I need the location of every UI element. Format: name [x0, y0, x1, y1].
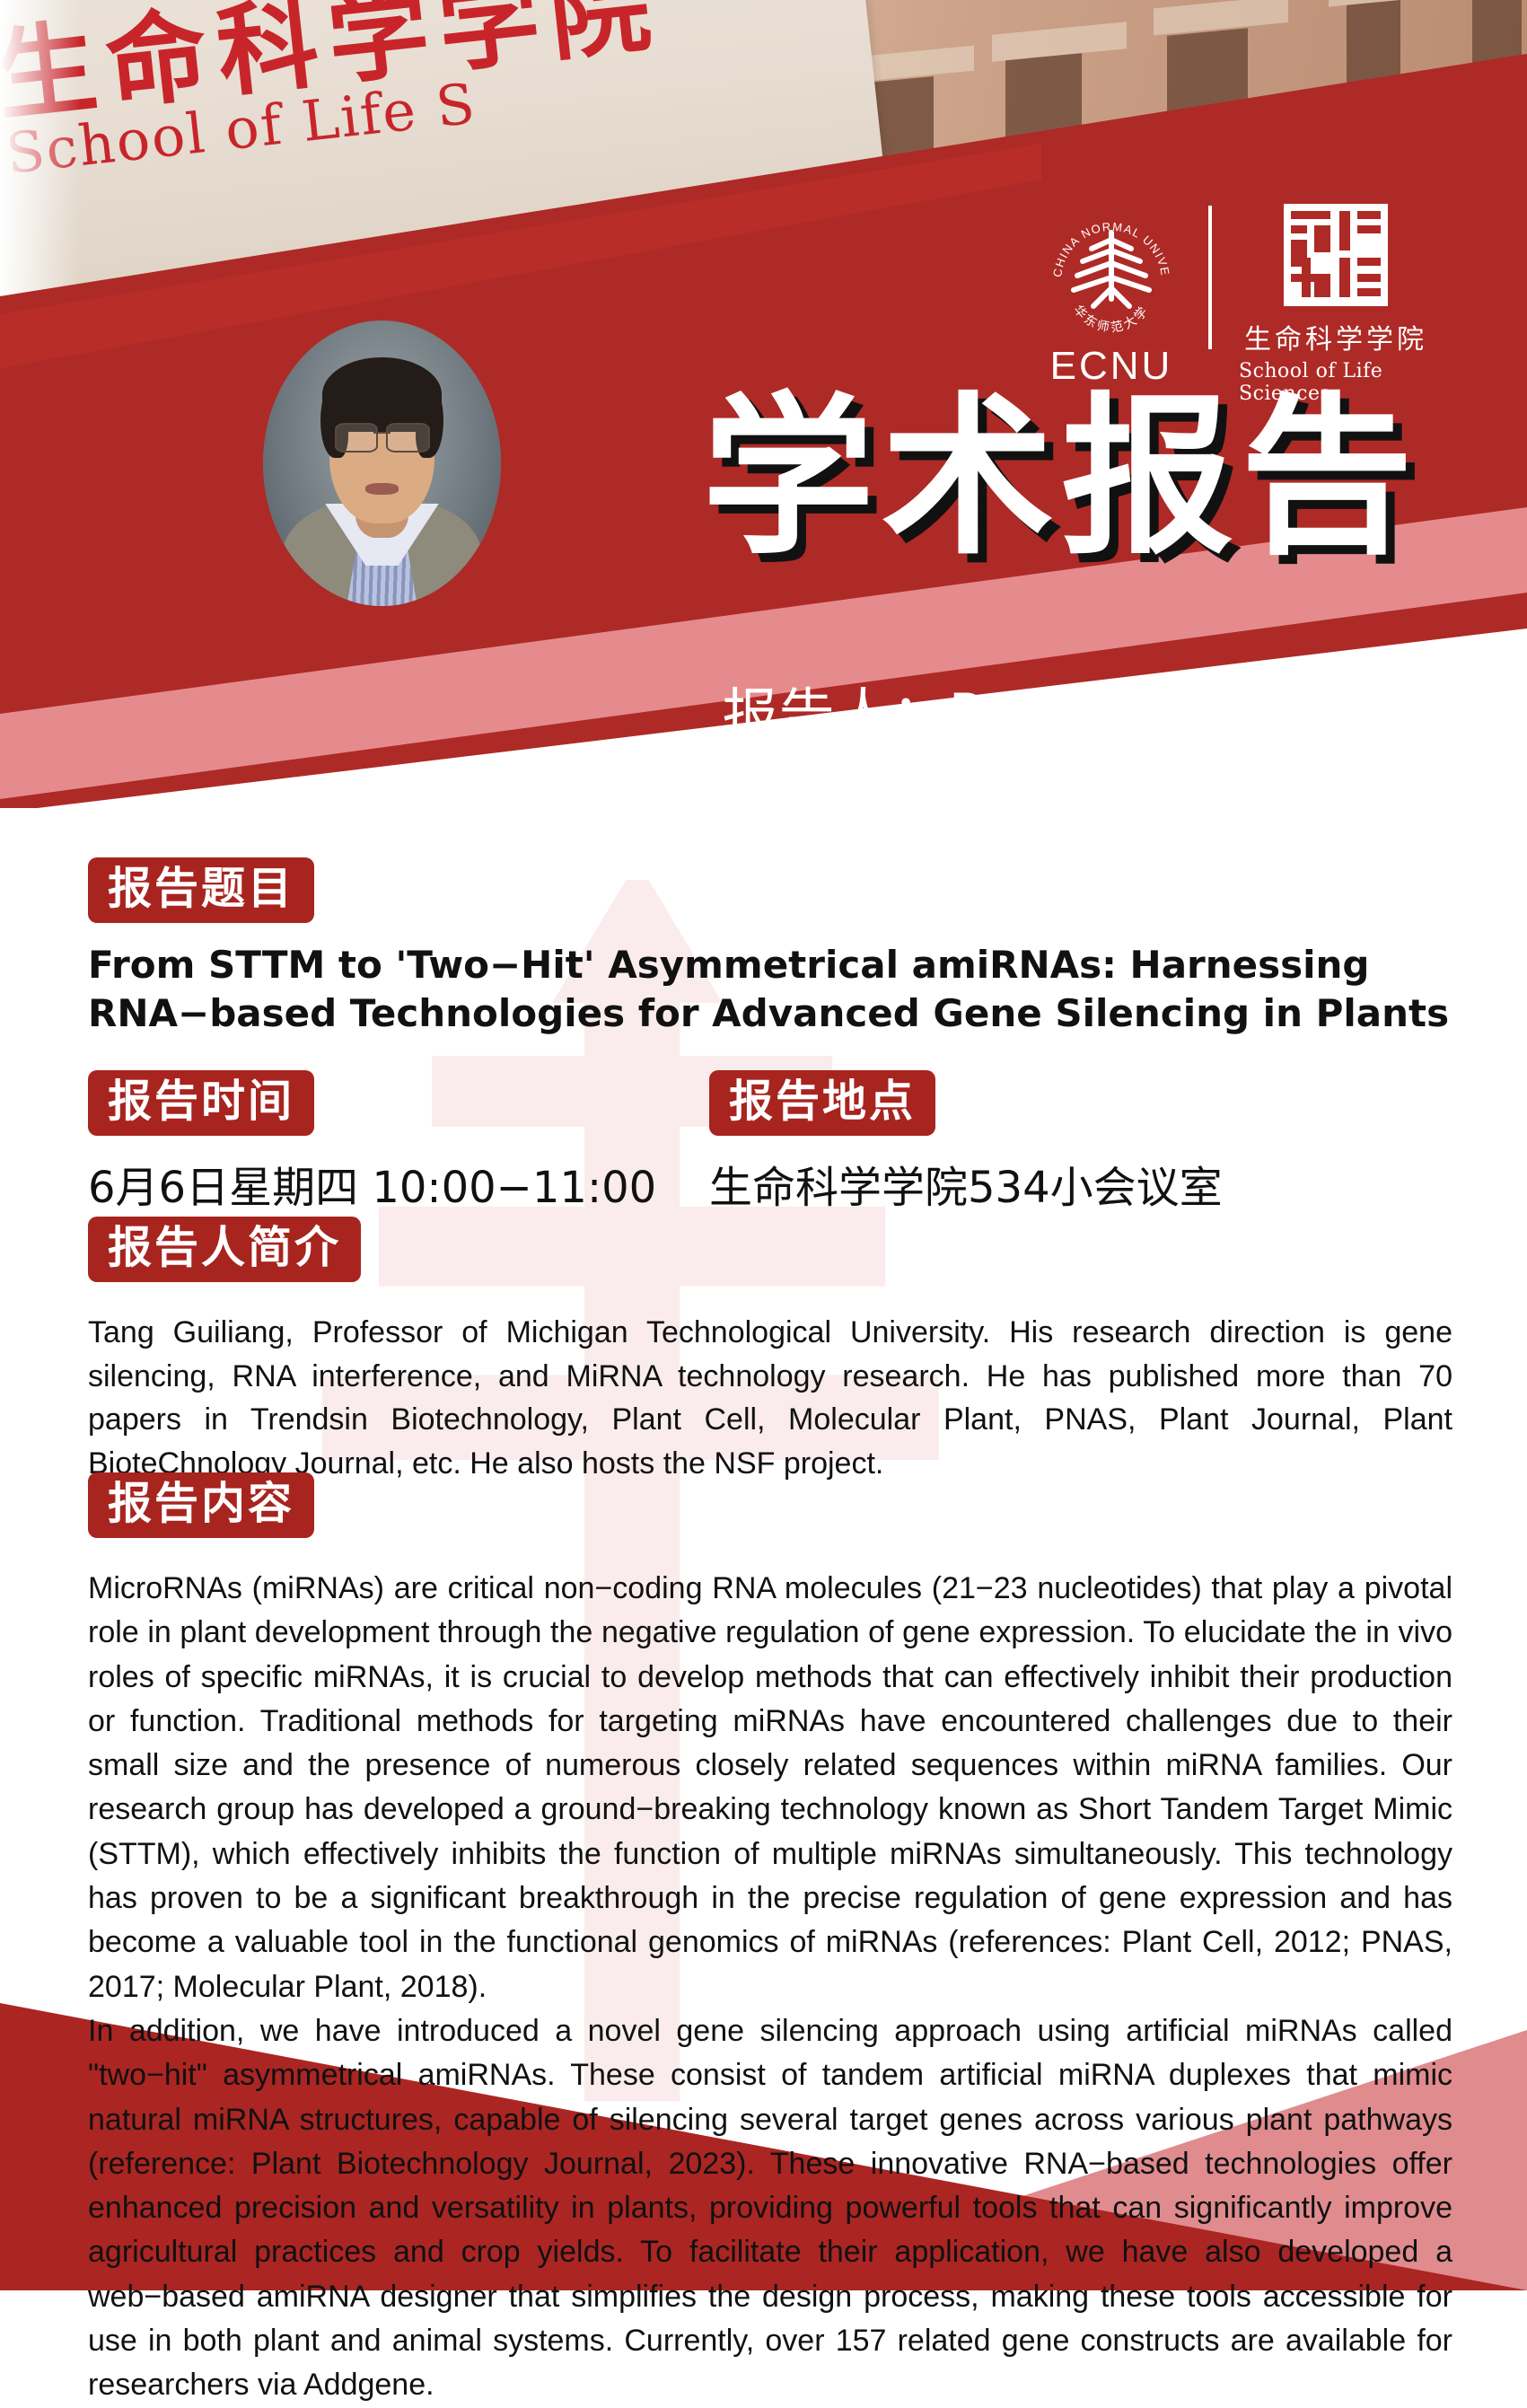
ecnu-logo-block: EAST CHINA NORMAL UNIVERSITY 华东师范大学 ECNU: [1041, 202, 1433, 405]
ecnu-university-logo: EAST CHINA NORMAL UNIVERSITY 华东师范大学 ECNU: [1041, 202, 1181, 389]
host-line: 主持人：晏军研究员: [1118, 768, 1500, 835]
bio-text: Tang Guiliang, Professor of Michigan Tec…: [88, 1311, 1452, 1485]
host-rank: 研究员: [1398, 790, 1500, 830]
abstract-text: MicroRNAs (miRNAs) are critical non−codi…: [88, 1567, 1452, 2408]
abstract-paragraph-1: MicroRNAs (miRNAs) are critical non−codi…: [88, 1567, 1452, 2009]
badge-abstract: 报告内容: [88, 1472, 314, 1538]
host-name: 晏军: [1304, 779, 1398, 833]
badge-talk-title: 报告题目: [88, 857, 314, 923]
time-value: 6月6日星期四 10:00−11:00: [88, 1152, 656, 1215]
ecnu-tree-seal-icon: EAST CHINA NORMAL UNIVERSITY 华东师范大学: [1041, 202, 1181, 342]
abstract-paragraph-2: In addition, we have introduced a novel …: [88, 2009, 1452, 2408]
place-section: 报告地点: [709, 1070, 935, 1136]
speaker-line: 报告人：Prof. Tang, Guiliang: [723, 669, 1500, 750]
school-seal-icon: [1282, 202, 1390, 308]
place-value: 生命科学学院534小会议室: [709, 1152, 1223, 1215]
logo-divider: [1208, 206, 1212, 349]
poster-main-title: 学术报告: [702, 392, 1420, 565]
photo-left-fade: [0, 0, 81, 323]
badge-bio: 报告人简介: [88, 1217, 361, 1282]
svg-text:华东师范大学: 华东师范大学: [1070, 303, 1152, 336]
bio-section: 报告人简介: [88, 1217, 361, 1282]
host-label: 主持人：: [1118, 779, 1304, 833]
portrait-mouth: [365, 483, 399, 495]
school-of-life-sciences-logo: 生命科学学院 School of Life Sciences: [1239, 202, 1433, 405]
logo-ring-text-cn: 华东师范大学: [1070, 303, 1152, 336]
talk-title-text: From STTM to 'Two−Hit' Asymmetrical amiR…: [88, 941, 1452, 1038]
badge-time: 报告时间: [88, 1070, 314, 1136]
portrait-glasses-icon: [335, 423, 430, 449]
school-name-cn: 生命科学学院: [1244, 317, 1427, 356]
talk-title-section: 报告题目: [88, 857, 314, 923]
speaker-portrait-avatar: [263, 321, 501, 606]
portrait-glasses-bridge: [373, 432, 391, 434]
badge-place: 报告地点: [709, 1070, 935, 1136]
time-section: 报告时间: [88, 1070, 314, 1136]
abstract-section: 报告内容: [88, 1472, 314, 1538]
